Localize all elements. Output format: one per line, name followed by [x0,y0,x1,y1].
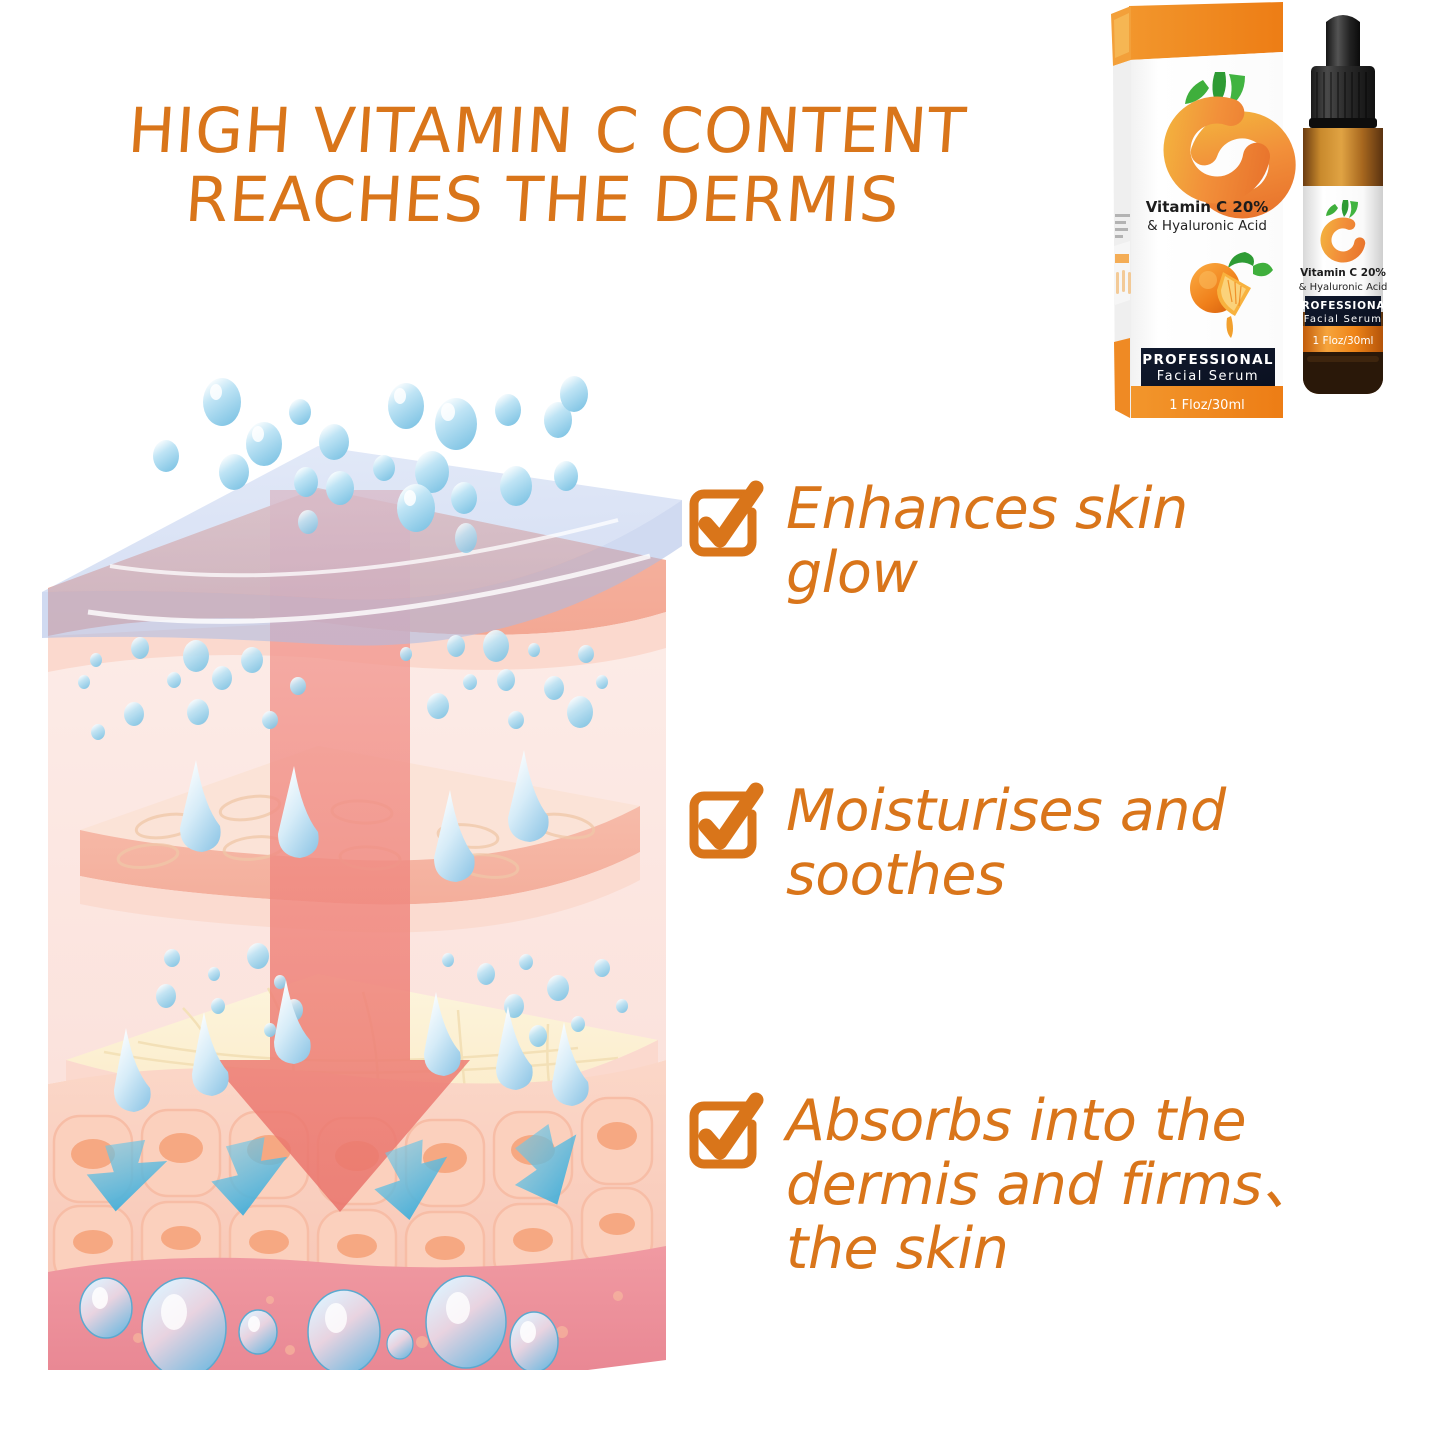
benefit-item-absorbs-into-the-dermis: Absorbs into the dermis and firms、 the s… [686,1090,1318,1281]
benefit-line-2: dermis and firms、 [786,1152,1318,1218]
checkbox-checked-icon [686,786,764,864]
benefit-line-1: Absorbs into the [786,1088,1246,1154]
box-title: Vitamin C 20% [1146,198,1269,216]
box-badge-line-1: PROFESSIONAL [1142,352,1274,368]
benefit-label: Absorbs into the dermis and firms、 the s… [786,1090,1318,1281]
box-badge-line-2: Facial Serum [1157,369,1259,384]
checkbox-checked-icon [686,484,764,562]
bottle-badge-line-1: PROFESSIONAL [1293,300,1393,312]
bottle-volume: 1 Floz/30ml [1313,335,1374,347]
benefit-item-moisturises-and-soothes: Moisturises and soothes [686,780,1226,908]
benefit-item-enhances-skin-glow: Enhances skin glow [686,478,1188,606]
checkbox-checked-icon [686,1096,764,1174]
benefit-line-3: the skin [786,1216,1008,1282]
product-image: Vitamin C 20% & Hyaluronic Acid PROFESSI… [1105,0,1445,445]
skin-cross-section-diagram [18,360,688,1370]
benefit-line-1: Moisturises and [786,778,1226,844]
box-volume: 1 Floz/30ml [1169,398,1244,413]
benefit-label: Enhances skin glow [786,478,1188,606]
page-title-line-1: HIGH VITAMIN C CONTENT [0,96,1095,165]
benefit-line-2: soothes [786,842,1005,908]
page-title-line-2: REACHES THE DERMIS [0,165,1090,234]
benefit-label: Moisturises and soothes [786,780,1226,908]
bottle-badge-line-2: Facial Serum [1304,314,1382,325]
bottle-title: Vitamin C 20% [1300,267,1386,279]
page-title: HIGH VITAMIN C CONTENT REACHES THE DERMI… [0,96,1095,235]
benefit-line-2: glow [786,540,918,606]
box-subtitle: & Hyaluronic Acid [1147,218,1267,234]
bottle-subtitle: & Hyaluronic Acid [1299,282,1388,293]
benefit-line-1: Enhances skin [786,476,1188,542]
